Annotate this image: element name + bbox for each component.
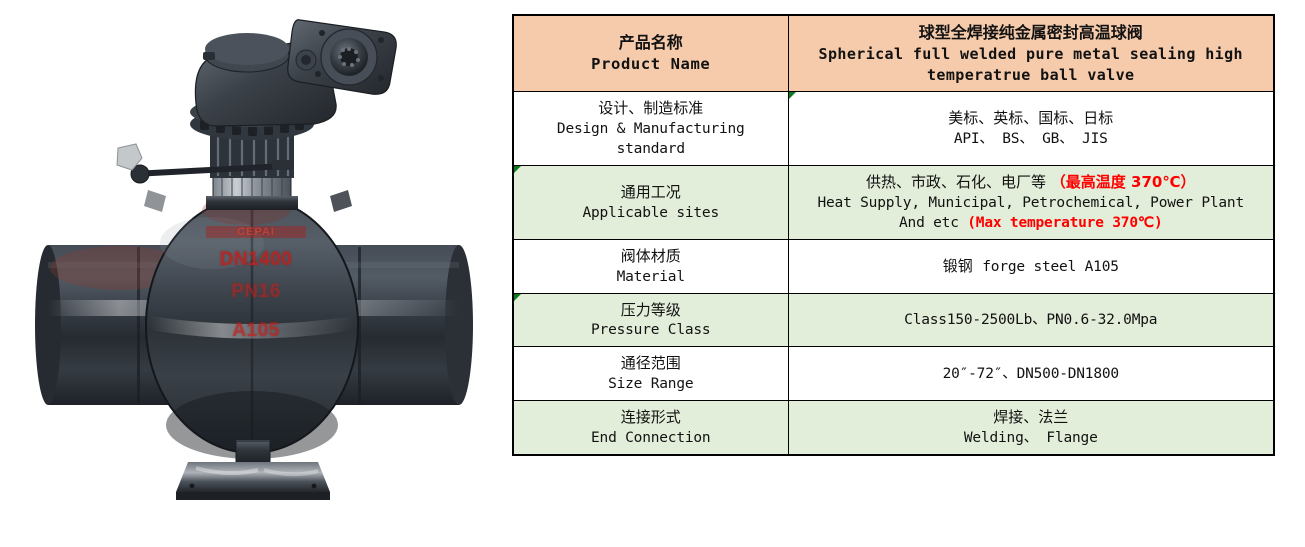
label-en-line2: standard: [522, 139, 780, 159]
label-en: Product Name: [522, 54, 780, 75]
label-en: Size Range: [522, 374, 780, 394]
comment-marker-icon: [514, 294, 521, 301]
value-cn: 锻钢: [943, 257, 973, 275]
row-label-material: 阀体材质 Material: [513, 239, 788, 293]
value-en: Welding、 Flange: [797, 428, 1266, 448]
table-row: 通用工况 Applicable sites 供热、市政、石化、电厂等 （最高温度…: [513, 166, 1274, 240]
value-en-temperature-highlight: (Max temperature 370℃): [967, 215, 1162, 231]
value-cn-temperature-highlight: （最高温度 370℃）: [1051, 173, 1196, 191]
value-en-line2: And etc (Max temperature 370℃): [797, 213, 1266, 233]
value-cn: 焊接、法兰: [797, 407, 1266, 428]
table-row: 压力等级 Pressure Class Class150-2500Lb、PN0.…: [513, 293, 1274, 347]
row-value-product-name: 球型全焊接纯金属密封高温球阀 Spherical full welded pur…: [788, 15, 1274, 92]
label-cn: 产品名称: [522, 32, 780, 54]
label-en: End Connection: [522, 428, 780, 448]
gear-operator-housing: [195, 20, 396, 126]
valve-marking-brand: CEPAI: [206, 226, 306, 238]
value-line: 锻钢 forge steel A105: [797, 256, 1266, 277]
comment-marker-icon: [514, 166, 521, 173]
row-value-pressure-class: Class150-2500Lb、PN0.6-32.0Mpa: [788, 293, 1274, 347]
label-cn: 阀体材质: [522, 246, 780, 267]
table-row: 通径范围 Size Range 20″-72″、DN500-DN1800: [513, 347, 1274, 401]
label-cn: 连接形式: [522, 407, 780, 428]
value-cn-plain: 供热、市政、石化、电厂等: [866, 173, 1051, 191]
valve-marking-size: DN1400: [196, 249, 316, 271]
row-value-size-range: 20″-72″、DN500-DN1800: [788, 347, 1274, 401]
value-en-line1: Spherical full welded pure metal sealing…: [797, 44, 1266, 65]
valve-marking-pressure: PN16: [196, 281, 316, 303]
row-value-applicable-sites: 供热、市政、石化、电厂等 （最高温度 370℃） Heat Supply, Mu…: [788, 166, 1274, 240]
value-en: Class150-2500Lb、PN0.6-32.0Mpa: [797, 310, 1266, 330]
value-en: API、 BS、 GB、 JIS: [797, 129, 1266, 149]
table-row: 产品名称 Product Name 球型全焊接纯金属密封高温球阀 Spheric…: [513, 15, 1274, 92]
row-label-applicable-sites: 通用工况 Applicable sites: [513, 166, 788, 240]
table-row: 连接形式 End Connection 焊接、法兰 Welding、 Flang…: [513, 400, 1274, 454]
row-label-size-range: 通径范围 Size Range: [513, 347, 788, 401]
product-photo-panel: CEPAI DN1400 PN16 A105: [0, 0, 500, 547]
value-cn: 球型全焊接纯金属密封高温球阀: [797, 22, 1266, 44]
value-en: forge steel A105: [982, 259, 1118, 275]
row-label-product-name: 产品名称 Product Name: [513, 15, 788, 92]
row-value-end-connection: 焊接、法兰 Welding、 Flange: [788, 400, 1274, 454]
value-en: 20″-72″、DN500-DN1800: [797, 364, 1266, 384]
label-cn: 通径范围: [522, 353, 780, 374]
specification-table: 产品名称 Product Name 球型全焊接纯金属密封高温球阀 Spheric…: [512, 14, 1275, 456]
label-en: Pressure Class: [522, 320, 780, 340]
row-label-pressure-class: 压力等级 Pressure Class: [513, 293, 788, 347]
label-en: Applicable sites: [522, 203, 780, 223]
row-value-design-standard: 美标、英标、国标、日标 API、 BS、 GB、 JIS: [788, 92, 1274, 166]
row-value-material: 锻钢 forge steel A105: [788, 239, 1274, 293]
comment-marker-icon: [789, 92, 796, 99]
label-cn: 设计、制造标准: [522, 98, 780, 119]
label-en: Material: [522, 267, 780, 287]
table-row: 阀体材质 Material 锻钢 forge steel A105: [513, 239, 1274, 293]
label-cn: 压力等级: [522, 300, 780, 321]
label-cn: 通用工况: [522, 182, 780, 203]
value-en-line2: temperatrue ball valve: [797, 65, 1266, 86]
value-en-plain: And etc: [899, 215, 967, 231]
valve-marking-material: A105: [196, 320, 316, 342]
table-row: 设计、制造标准 Design & Manufacturing standard …: [513, 92, 1274, 166]
specification-table-container: 产品名称 Product Name 球型全焊接纯金属密封高温球阀 Spheric…: [512, 14, 1273, 456]
row-label-design-standard: 设计、制造标准 Design & Manufacturing standard: [513, 92, 788, 166]
label-en-line1: Design & Manufacturing: [522, 119, 780, 139]
valve-illustration: [0, 0, 500, 547]
value-cn: 美标、英标、国标、日标: [797, 108, 1266, 129]
row-label-end-connection: 连接形式 End Connection: [513, 400, 788, 454]
value-cn-line: 供热、市政、石化、电厂等 （最高温度 370℃）: [797, 172, 1266, 193]
value-en-line1: Heat Supply, Municipal, Petrochemical, P…: [797, 193, 1266, 213]
